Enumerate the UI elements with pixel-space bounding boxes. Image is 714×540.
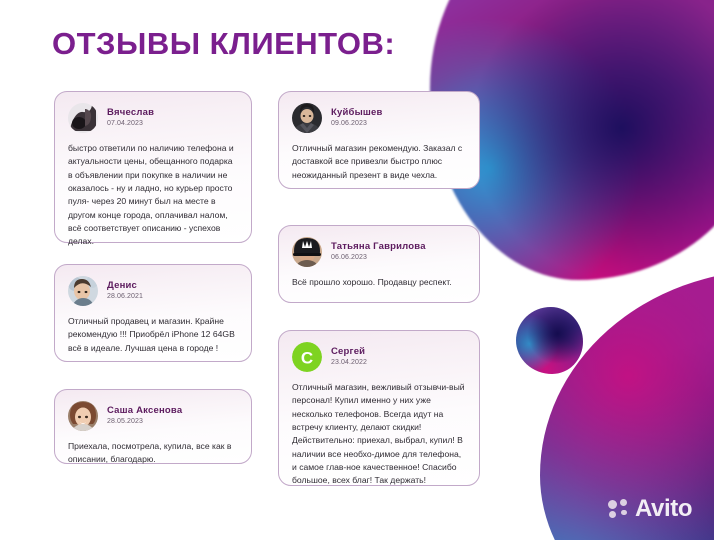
svg-text:C: C <box>301 349 313 368</box>
avito-wordmark: Avito <box>635 497 692 521</box>
photo-avatar-vyacheslav-icon <box>68 103 98 133</box>
page-title: ОТЗЫВЫ КЛИЕНТОВ: <box>52 26 395 62</box>
review-text: Отличный магазин, вежливый отзывчи-вый п… <box>292 381 466 488</box>
avito-logo: Avito <box>608 497 692 521</box>
photo-avatar-denis-icon <box>68 276 98 306</box>
review-date: 23.04.2022 <box>331 359 367 367</box>
photo-avatar-kuybyshev-icon <box>292 103 322 133</box>
letter-avatar-sergey-icon: C <box>292 342 322 372</box>
avatar <box>68 103 98 133</box>
review-text: Всё прошло хорошо. Продавцу респект. <box>292 276 466 289</box>
review-date: 07.04.2023 <box>107 120 154 128</box>
review-card: Вячеслав 07.04.2023 быстро ответили по н… <box>54 91 252 243</box>
reviewer-name: Куйбышев <box>331 108 383 119</box>
photo-avatar-sasha-icon <box>68 401 98 431</box>
review-date: 09.06.2023 <box>331 120 383 128</box>
review-date: 28.06.2021 <box>107 293 143 301</box>
review-identity: Татьяна Гаврилова 06.06.2023 <box>331 242 426 262</box>
review-text: Приехала, посмотрела, купила, все как в … <box>68 440 238 467</box>
review-header: Денис 28.06.2021 <box>68 276 238 306</box>
review-identity: Денис 28.06.2021 <box>107 281 143 301</box>
review-identity: Вячеслав 07.04.2023 <box>107 108 154 128</box>
review-date: 28.05.2023 <box>107 418 182 426</box>
review-header: Саша Аксенова 28.05.2023 <box>68 401 238 431</box>
review-date: 06.06.2023 <box>331 254 426 262</box>
reviewer-name: Сергей <box>331 347 367 358</box>
review-card: Куйбышев 09.06.2023 Отличный магазин рек… <box>278 91 480 189</box>
photo-avatar-tatyana-icon <box>292 237 322 267</box>
review-identity: Куйбышев 09.06.2023 <box>331 108 383 128</box>
reviews-page: ОТЗЫВЫ КЛИЕНТОВ: Вячеслав 07.04.2023 быс… <box>0 0 714 540</box>
review-text: быстро ответили по наличию телефона и ак… <box>68 142 238 249</box>
review-identity: Сергей 23.04.2022 <box>331 347 367 367</box>
review-card: Татьяна Гаврилова 06.06.2023 Всё прошло … <box>278 225 480 303</box>
avatar <box>292 103 322 133</box>
review-card: Денис 28.06.2021 Отличный продавец и маг… <box>54 264 252 362</box>
review-header: Вячеслав 07.04.2023 <box>68 103 238 133</box>
avatar <box>68 276 98 306</box>
review-text: Отличный магазин рекомендую. Заказал с д… <box>292 142 466 182</box>
avito-dots-icon <box>608 499 630 520</box>
reviewer-name: Вячеслав <box>107 108 154 119</box>
review-card: Саша Аксенова 28.05.2023 Приехала, посмо… <box>54 389 252 464</box>
review-header: Татьяна Гаврилова 06.06.2023 <box>292 237 466 267</box>
reviewer-name: Татьяна Гаврилова <box>331 242 426 253</box>
review-card: C Сергей 23.04.2022 Отличный магазин, ве… <box>278 330 480 486</box>
reviewer-name: Денис <box>107 281 143 292</box>
review-identity: Саша Аксенова 28.05.2023 <box>107 406 182 426</box>
avatar: C <box>292 342 322 372</box>
review-header: C Сергей 23.04.2022 <box>292 342 466 372</box>
review-header: Куйбышев 09.06.2023 <box>292 103 466 133</box>
reviewer-name: Саша Аксенова <box>107 406 182 417</box>
avatar <box>292 237 322 267</box>
avatar <box>68 401 98 431</box>
review-text: Отличный продавец и магазин. Крайне реко… <box>68 315 238 355</box>
